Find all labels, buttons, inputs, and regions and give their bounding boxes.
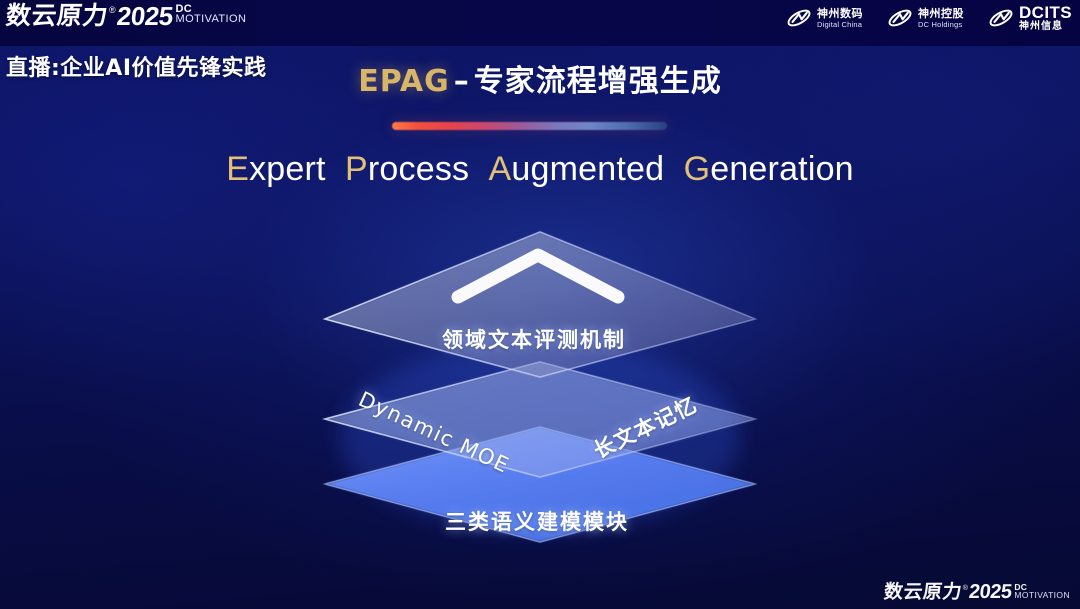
- brand-logo-cn: 数云原力: [5, 2, 110, 30]
- partner-name-en: Digital China: [817, 21, 863, 29]
- title-acronym: EPAG: [358, 64, 450, 99]
- swirl-icon: [887, 5, 913, 31]
- subtitle-space: [479, 150, 489, 188]
- footer-logo-dc-motivation: DC MOTIVATION: [1014, 583, 1070, 599]
- live-session-label: 直播:企业AI价值先锋实践: [6, 50, 267, 82]
- slide-canvas: 数云原力 ® 2025 DC MOTIVATION 直播:企业AI价值先锋实践 …: [0, 0, 1080, 609]
- footer-logo-motivation: MOTIVATION: [1014, 591, 1070, 600]
- subtitle-rest: ugmented: [511, 150, 664, 188]
- subtitle-cap: A: [489, 150, 512, 188]
- subtitle-word-augmented: Augmented: [489, 150, 665, 188]
- partner-name-cn: 神州数码: [817, 8, 863, 20]
- subtitle-rest: rocess: [368, 150, 469, 188]
- footer-logo-year: 2025: [968, 582, 1013, 603]
- subtitle-word-process: Process: [345, 150, 469, 188]
- partner-logo-dc-holdings: 神州控股 DC Holdings: [887, 5, 964, 31]
- gradient-divider: [392, 122, 667, 130]
- brand-logo-motivation: MOTIVATION: [176, 14, 247, 25]
- brand-logo-dc-motivation: DC MOTIVATION: [176, 4, 247, 25]
- partner-name-en: DCITS: [1019, 4, 1072, 22]
- subtitle-cap: E: [226, 150, 249, 188]
- footer-logo-cn: 数云原力: [883, 582, 963, 603]
- title-dash: –: [454, 64, 470, 99]
- partner-name-en: DC Holdings: [918, 21, 964, 29]
- partner-name-cn: 神州控股: [918, 8, 964, 20]
- layer-stack-svg: [290, 222, 790, 572]
- partner-logo-dcits: DCITS 神州信息: [988, 4, 1072, 32]
- subtitle-space: [674, 150, 684, 188]
- subtitle-rest: xpert: [249, 150, 326, 188]
- brand-logo: 数云原力 ® 2025 DC MOTIVATION: [6, 2, 246, 30]
- partner-logo-text: 神州控股 DC Holdings: [918, 8, 964, 28]
- partner-logo-text: DCITS 神州信息: [1019, 4, 1072, 32]
- page-subtitle: Expert Process Augmented Generation: [0, 150, 1080, 189]
- subtitle-cap: G: [684, 150, 711, 188]
- brand-logo-year: 2025: [115, 2, 174, 30]
- partner-logo-text: 神州数码 Digital China: [817, 8, 863, 28]
- subtitle-word-expert: Expert: [226, 150, 325, 188]
- footer-brand-logo: 数云原力 ® 2025 DC MOTIVATION: [884, 582, 1070, 603]
- partner-logo-group: 神州数码 Digital China 神州控股 DC Holdings DCIT…: [786, 4, 1072, 32]
- swirl-icon: [786, 5, 812, 31]
- subtitle-space: [335, 150, 345, 188]
- subtitle-cap: P: [345, 150, 368, 188]
- footer-registered-mark: ®: [963, 584, 968, 593]
- subtitle-rest: eneration: [710, 150, 854, 188]
- partner-name-cn: 神州信息: [1019, 22, 1072, 33]
- layered-architecture-diagram: 领域文本评测机制 Dynamic MOE 长文本记忆 三类语义建模模块: [290, 222, 790, 572]
- subtitle-word-generation: Generation: [684, 150, 854, 188]
- title-chinese: 专家流程增强生成: [474, 64, 722, 99]
- swirl-icon: [988, 5, 1014, 31]
- partner-logo-digital-china: 神州数码 Digital China: [786, 5, 863, 31]
- brand-registered-mark: ®: [109, 4, 116, 16]
